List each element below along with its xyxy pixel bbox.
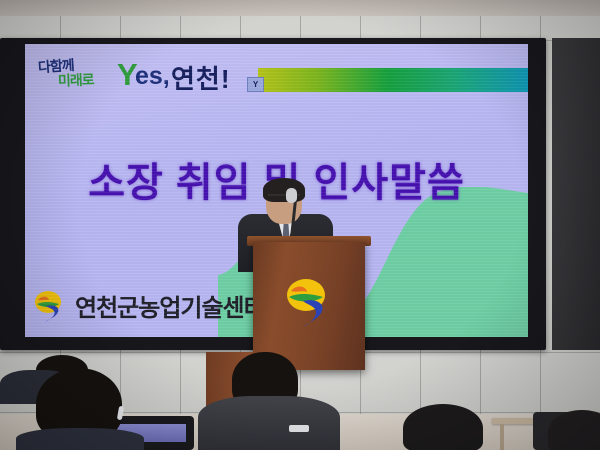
microphone-head-icon xyxy=(286,188,297,203)
yeoncheon-county-emblem-icon xyxy=(33,289,67,323)
podium-emblem-icon xyxy=(284,276,334,328)
presentation-photo: 다함께 미래로 Y es, 연천! Y 소장 취임 및 인사말씀 연천군농업기술… xyxy=(0,0,600,450)
slide-gradient-bar xyxy=(258,68,528,92)
logo-brand-es: es, xyxy=(135,62,170,91)
logo-brand-region: 연천! xyxy=(171,59,231,96)
yes-yeoncheon-logo: 다함께 미래로 Y es, 연천! Y xyxy=(35,56,265,98)
organization-name: 연천군농업기술센터 xyxy=(75,288,265,323)
logo-line-2: 미래로 xyxy=(58,69,94,90)
podium xyxy=(253,242,365,370)
organization-lockup: 연천군농업기술센터 xyxy=(33,288,265,323)
ceiling-strip xyxy=(0,0,600,16)
logo-trademark-icon: Y xyxy=(247,77,264,92)
wall-cabinet xyxy=(552,38,600,350)
side-desk-leg xyxy=(500,424,504,450)
